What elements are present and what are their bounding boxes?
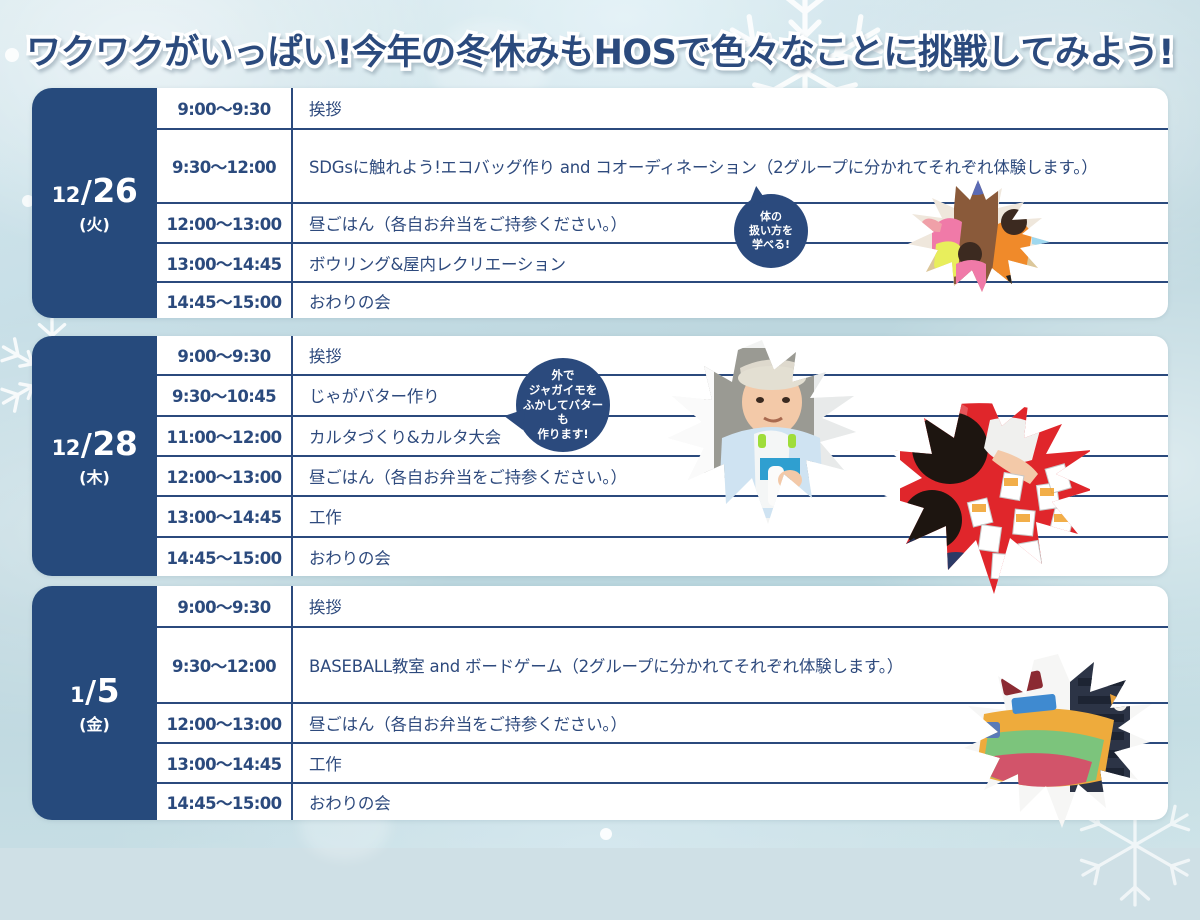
day-of-week: (火) bbox=[79, 217, 110, 233]
callout-line: 体の bbox=[749, 210, 793, 224]
date-label: 12/28 bbox=[52, 427, 138, 461]
bokeh-dot bbox=[600, 828, 612, 840]
date-day: 26 bbox=[92, 174, 137, 207]
callout-line: ジャガイモを bbox=[522, 383, 604, 398]
photo-kids-playing bbox=[902, 178, 1054, 294]
row-time: 13:00〜14:45 bbox=[157, 744, 293, 782]
day-of-week: (金) bbox=[79, 717, 110, 733]
row-time: 9:30〜10:45 bbox=[157, 376, 293, 414]
date-label: 1/5 bbox=[70, 674, 119, 708]
row-time: 14:45〜15:00 bbox=[157, 283, 293, 318]
row-time: 14:45〜15:00 bbox=[157, 538, 293, 576]
callout-line: 扱い方を bbox=[749, 224, 793, 238]
date-separator: / bbox=[81, 431, 91, 461]
date-day: 5 bbox=[97, 674, 119, 707]
date-cell: 12/28 (木) bbox=[32, 336, 157, 576]
row-time: 9:00〜9:30 bbox=[157, 586, 293, 626]
row-time: 12:00〜13:00 bbox=[157, 457, 293, 495]
date-cell: 1/5 (金) bbox=[32, 586, 157, 820]
date-label: 12/26 bbox=[52, 174, 138, 208]
row-time: 12:00〜13:00 bbox=[157, 704, 293, 742]
callout-line: ふかしてバターも bbox=[522, 398, 604, 427]
row-activity: SDGsに触れよう!エコバッグ作り and コオーディネーション（2グループに分… bbox=[293, 154, 1168, 178]
date-cell: 12/26 (火) bbox=[32, 88, 157, 318]
table-row: 9:00〜9:30 挨拶 bbox=[157, 88, 1168, 130]
row-time: 9:00〜9:30 bbox=[157, 88, 293, 128]
callout-line: 学べる! bbox=[749, 238, 793, 252]
day-of-week: (木) bbox=[79, 470, 110, 486]
row-time: 12:00〜13:00 bbox=[157, 204, 293, 242]
callout-bubble-potato-butter: 外で ジャガイモを ふかしてバターも 作ります! bbox=[516, 358, 610, 452]
row-activity: 挨拶 bbox=[293, 96, 1168, 120]
photo-board-game bbox=[960, 652, 1156, 832]
date-month: 12 bbox=[52, 438, 80, 459]
table-row: 9:00〜9:30 挨拶 bbox=[157, 336, 1168, 376]
row-time: 9:00〜9:30 bbox=[157, 336, 293, 374]
poster-title: ワクワクがいっぱい!今年の冬休みもHOSで色々なことに挑戦してみよう! bbox=[26, 24, 1174, 75]
photo-child-cooking bbox=[664, 338, 860, 528]
poster-title-container: ワクワクがいっぱい!今年の冬休みもHOSで色々なことに挑戦してみよう! bbox=[0, 24, 1200, 75]
callout-line: 作ります! bbox=[522, 427, 604, 442]
callout-bubble-body-skills: 体の 扱い方を 学べる! bbox=[734, 194, 808, 268]
date-day: 28 bbox=[92, 427, 137, 460]
date-separator: / bbox=[85, 678, 95, 708]
row-time: 13:00〜14:45 bbox=[157, 497, 293, 535]
row-time: 9:30〜12:00 bbox=[157, 130, 293, 202]
row-time: 9:30〜12:00 bbox=[157, 628, 293, 702]
photo-karuta-game bbox=[880, 392, 1096, 598]
date-month: 12 bbox=[52, 185, 80, 206]
row-time: 13:00〜14:45 bbox=[157, 244, 293, 281]
callout-line: 外で bbox=[522, 368, 604, 383]
date-separator: / bbox=[81, 178, 91, 208]
row-time: 14:45〜15:00 bbox=[157, 784, 293, 820]
date-month: 1 bbox=[70, 685, 84, 706]
row-time: 11:00〜12:00 bbox=[157, 417, 293, 455]
